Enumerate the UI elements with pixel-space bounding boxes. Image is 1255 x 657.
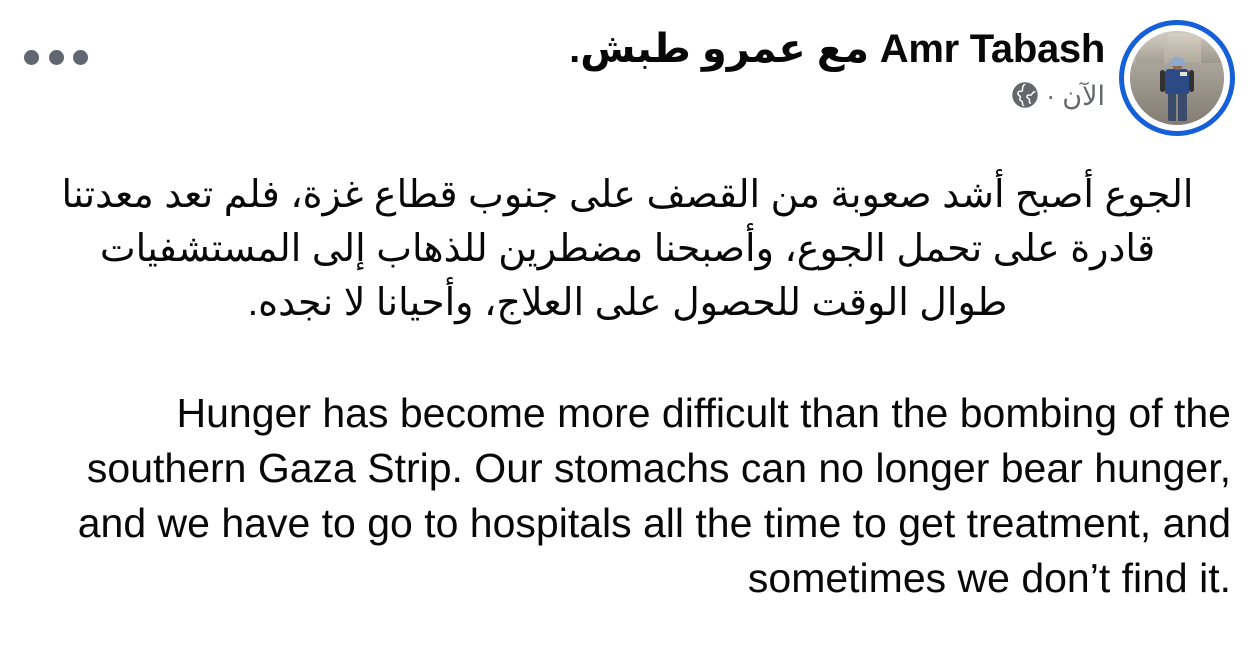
post-text-arabic: الجوع أصبح أشد صعوبة من القصف على جنوب ق…: [18, 168, 1237, 330]
avatar[interactable]: [1130, 31, 1224, 125]
meta-separator-dot: ·: [1046, 80, 1055, 112]
post-body: الجوع أصبح أشد صعوبة من القصف على جنوب ق…: [18, 168, 1237, 606]
globe-public-icon[interactable]: [1011, 81, 1039, 109]
social-post-card: Amr Tabash مع عمرو طبش. الآن ·: [0, 0, 1255, 657]
more-dot-3: [24, 50, 39, 65]
avatar-person-leg-gap: [1176, 93, 1178, 121]
more-options-icon[interactable]: [24, 44, 88, 70]
post-header: Amr Tabash مع عمرو طبش. الآن ·: [0, 0, 1255, 160]
more-dot-2: [49, 50, 64, 65]
author-name[interactable]: Amr Tabash مع عمرو طبش.: [22, 24, 1105, 74]
post-timestamp[interactable]: الآن: [1062, 80, 1105, 112]
header-text-group: Amr Tabash مع عمرو طبش. الآن ·: [22, 18, 1105, 112]
avatar-story-ring[interactable]: [1119, 20, 1235, 136]
avatar-person-press-tag: [1180, 72, 1187, 76]
more-dot-1: [73, 50, 88, 65]
avatar-person-helmet: [1170, 57, 1185, 66]
avatar-person-arm-right: [1189, 70, 1194, 92]
post-meta: الآن ·: [22, 80, 1105, 112]
post-text-english: Hunger has become more difficult than th…: [18, 386, 1237, 606]
